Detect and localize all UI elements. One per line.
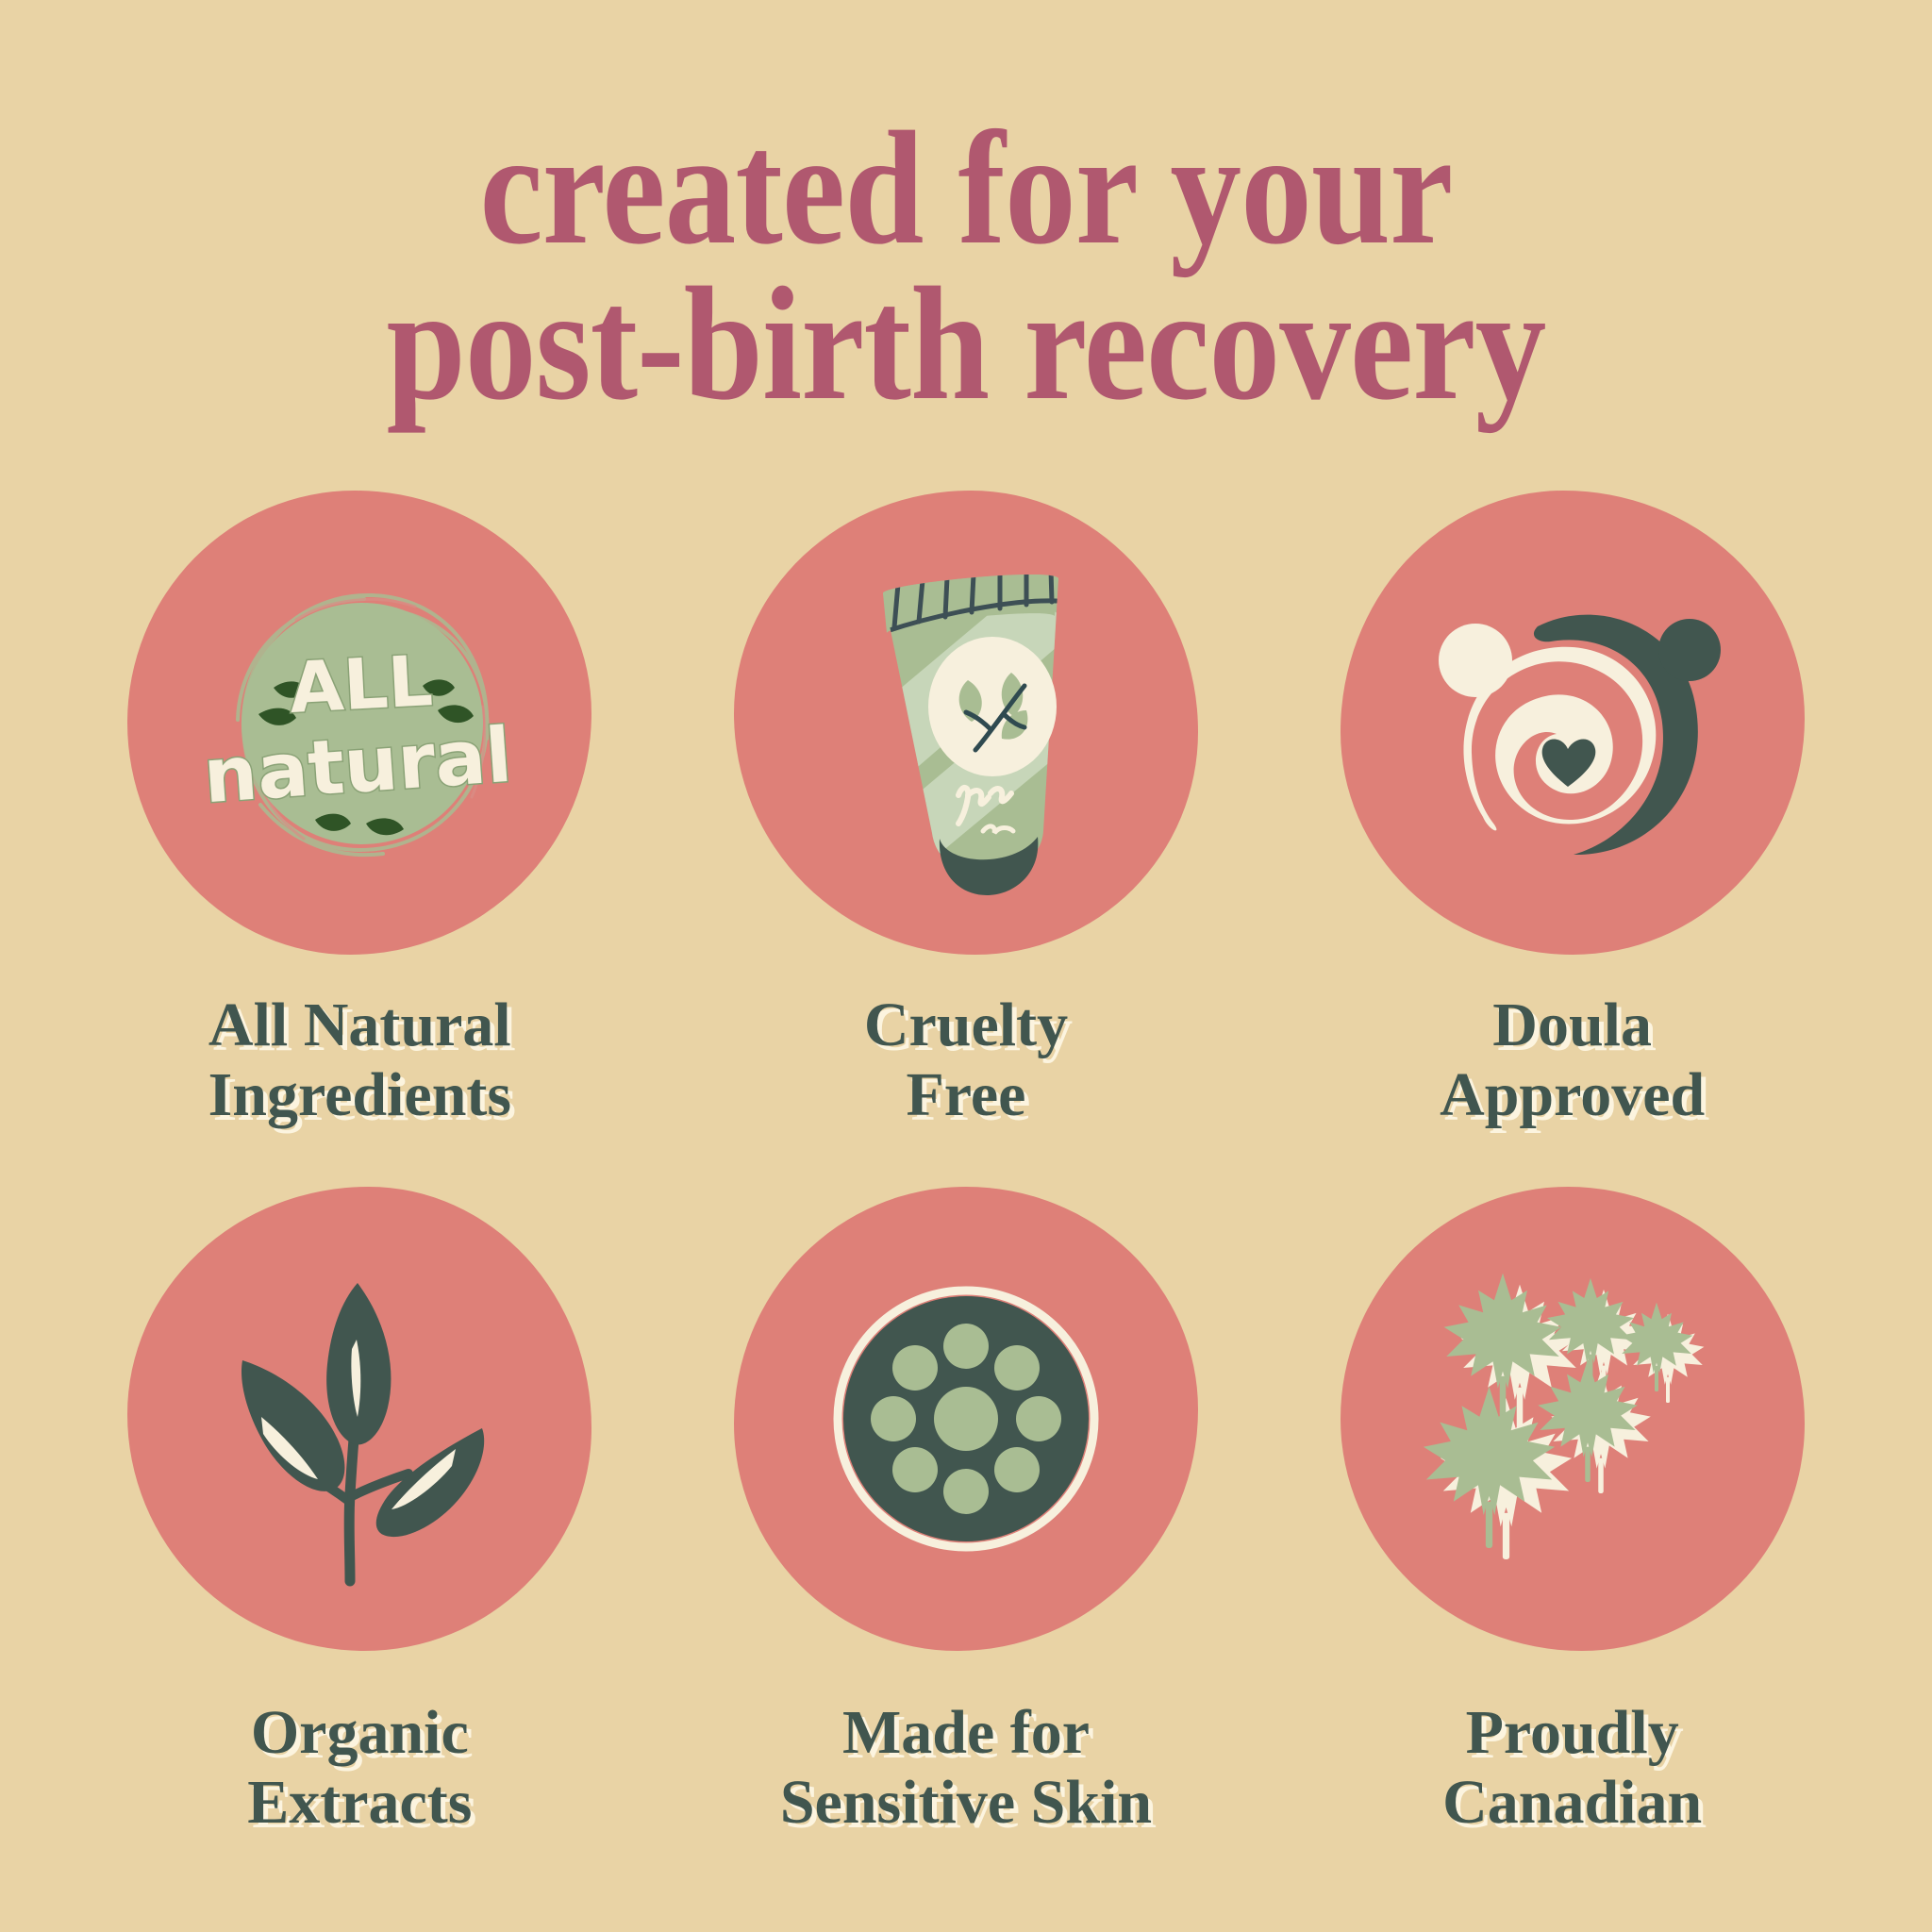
maple-leaves-icon bbox=[1417, 1263, 1728, 1574]
feature-label: Organic Extracts bbox=[247, 1698, 472, 1838]
icon-blob bbox=[734, 491, 1198, 955]
icon-blob: ALL natural bbox=[127, 491, 591, 955]
page-title: created for your post-birth recovery bbox=[116, 111, 1816, 423]
feature-proudly-canadian[interactable]: Proudly Canadian bbox=[1269, 1187, 1875, 1838]
feature-all-natural-ingredients[interactable]: ALL natural All Natural Ingredients bbox=[57, 491, 663, 1130]
all-natural-badge-icon: ALL natural bbox=[204, 567, 515, 878]
feature-label: All Natural Ingredients bbox=[208, 991, 512, 1130]
badge-text-top: ALL bbox=[288, 641, 435, 729]
feature-label: Cruelty Free bbox=[864, 991, 1068, 1130]
feature-doula-approved[interactable]: Doula Approved bbox=[1269, 491, 1875, 1130]
page-title-line-2: post-birth recovery bbox=[116, 267, 1816, 423]
feature-label: Proudly Canadian bbox=[1442, 1698, 1702, 1838]
page-title-line-1: created for your bbox=[479, 99, 1452, 278]
leaf-sprig-icon bbox=[208, 1249, 510, 1589]
feature-cruelty-free[interactable]: Cruelty Free bbox=[663, 491, 1270, 1130]
cream-tube-icon bbox=[824, 548, 1108, 897]
icon-blob bbox=[127, 1187, 591, 1651]
feature-made-for-sensitive-skin[interactable]: Made for Sensitive Skin bbox=[663, 1187, 1270, 1838]
feature-label: Doula Approved bbox=[1440, 991, 1705, 1130]
dotted-circle-icon bbox=[829, 1282, 1103, 1556]
icon-blob bbox=[734, 1187, 1198, 1651]
icon-blob bbox=[1341, 1187, 1805, 1651]
mother-child-swirl-icon bbox=[1417, 581, 1728, 864]
feature-label: Made for Sensitive Skin bbox=[780, 1698, 1152, 1838]
promo-graphic: created for your post-birth recovery bbox=[0, 0, 1932, 1932]
feature-organic-extracts[interactable]: Organic Extracts bbox=[57, 1187, 663, 1838]
feature-grid: ALL natural All Natural Ingredients bbox=[57, 491, 1875, 1838]
icon-blob bbox=[1341, 491, 1805, 955]
